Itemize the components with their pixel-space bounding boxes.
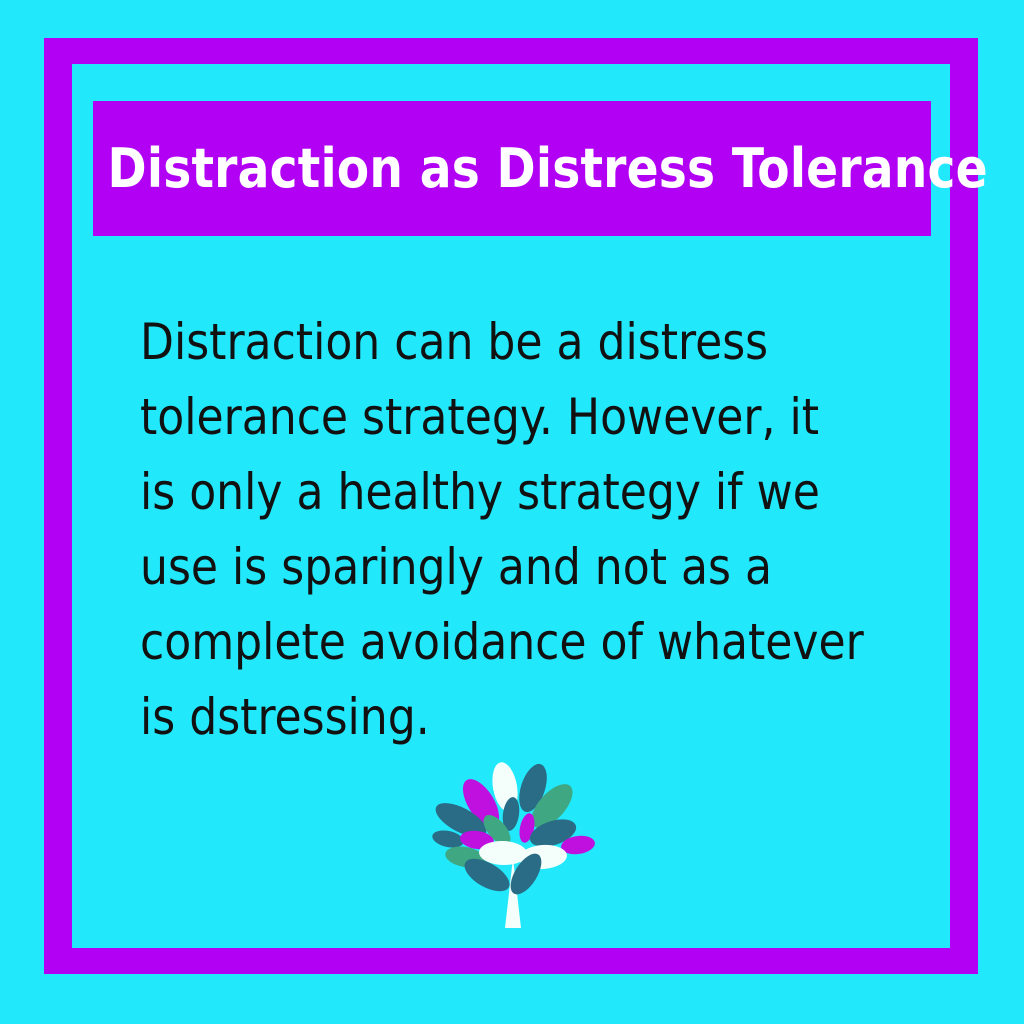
tree-logo-icon xyxy=(430,762,596,934)
body-line: use is sparingly and not as a xyxy=(140,530,885,605)
tree-leaves xyxy=(431,762,596,899)
body-line: is only a healthy strategy if we xyxy=(140,455,885,530)
title-banner: Distraction as Distress Tolerance xyxy=(93,101,931,236)
poster-canvas: Distraction as Distress Tolerance Distra… xyxy=(0,0,1024,1024)
body-text-block: Distraction can be a distress tolerance … xyxy=(140,305,900,755)
page-title: Distraction as Distress Tolerance xyxy=(93,142,988,196)
body-line: complete avoidance of whatever xyxy=(140,605,885,680)
body-line: is dstressing. xyxy=(140,680,885,755)
body-line: tolerance strategy. However, it xyxy=(140,380,885,455)
body-line: Distraction can be a distress xyxy=(140,305,885,380)
